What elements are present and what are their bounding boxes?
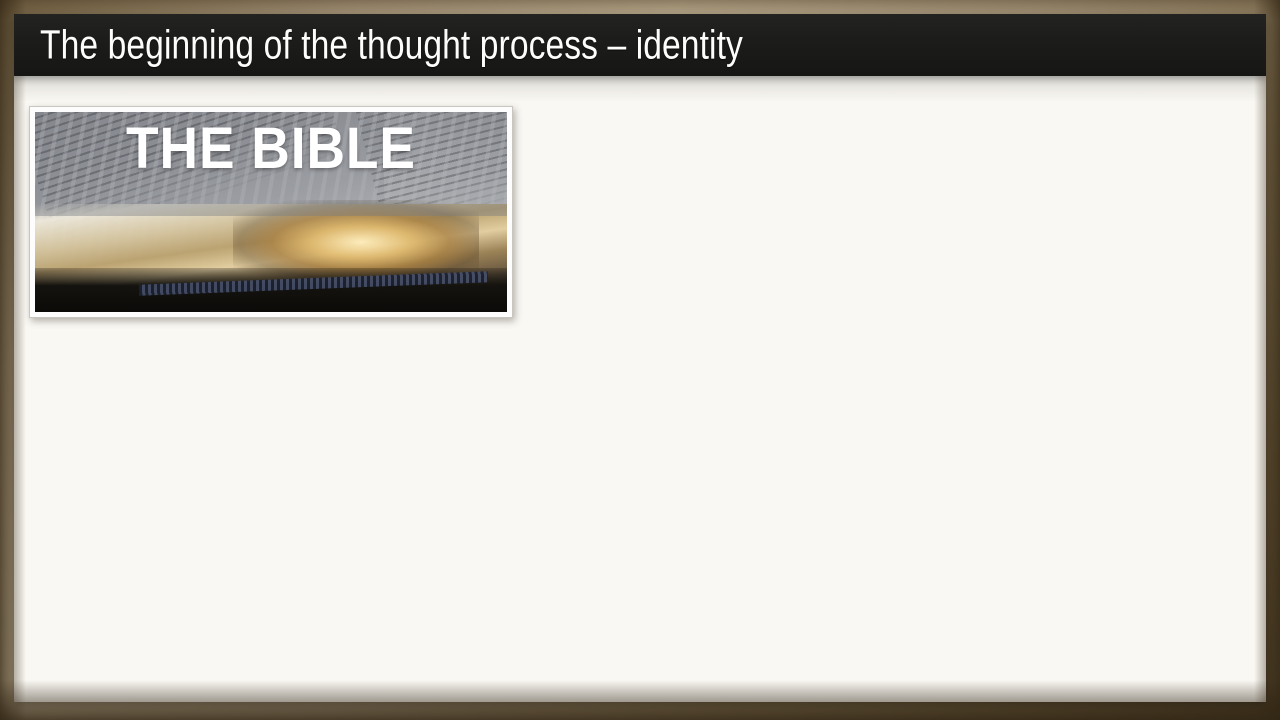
page-title: The beginning of the thought process – i… bbox=[40, 22, 743, 69]
slide-title-bar: The beginning of the thought process – i… bbox=[14, 14, 1266, 76]
slide-content-area bbox=[29, 334, 1251, 684]
slide-canvas: The beginning of the thought process – i… bbox=[14, 14, 1266, 702]
bible-picture-frame[interactable]: THE BIBLE bbox=[29, 106, 513, 318]
title-bar-shadow bbox=[14, 76, 1266, 102]
open-bible-photo: THE BIBLE bbox=[35, 112, 507, 312]
photo-caption: THE BIBLE bbox=[54, 120, 488, 178]
slide-root: The beginning of the thought process – i… bbox=[0, 0, 1280, 720]
